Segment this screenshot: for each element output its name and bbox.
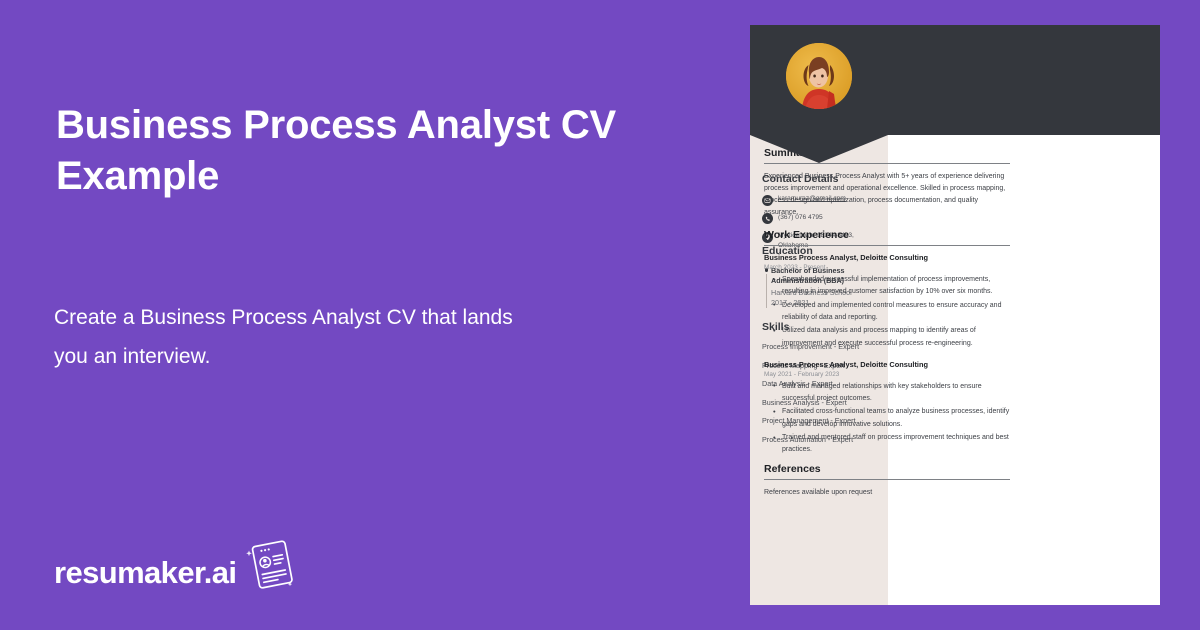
work-experience-section: Work Experience Business Process Analyst… (764, 229, 1010, 458)
job-bullet: Built and managed relationships with key… (782, 381, 1010, 405)
promo-panel: Business Process Analyst CV Example Crea… (0, 0, 750, 630)
job-bullet: Developed and implemented control measur… (782, 300, 1010, 324)
references-heading: References (764, 463, 1010, 480)
work-experience-heading: Work Experience (764, 229, 1010, 246)
references-section: References References available upon req… (764, 463, 1010, 499)
job-bullet: Trained and mentored staff on process im… (782, 432, 1010, 456)
references-text: References available upon request (764, 487, 1010, 499)
summary-text: Experienced Business Process Analyst wit… (764, 171, 1010, 219)
summary-section: Summary Experienced Business Process Ana… (764, 147, 1010, 219)
job-bullet: Spearheaded successful implementation of… (782, 274, 1010, 298)
document-card-icon (240, 538, 296, 597)
job-title: Business Process Analyst, Deloitte Consu… (764, 253, 1010, 263)
cv-preview-card[interactable]: Kara Muraz Business Process Analyst Cont… (750, 25, 1160, 605)
job-bullet-list: Built and managed relationships with key… (764, 381, 1010, 456)
promo-subheadline: Create a Business Process Analyst CV tha… (54, 298, 524, 377)
page-title: Business Process Analyst CV Example (56, 100, 676, 202)
job-dates: May 2021 - February 2023 (764, 371, 1010, 378)
brand-wordmark: resumaker.ai (54, 557, 236, 588)
job-bullet-list: Spearheaded successful implementation of… (764, 274, 1010, 349)
job-bullet: Utilized data analysis and process mappi… (782, 325, 1010, 349)
work-experience-entry: Business Process Analyst, Deloitte Consu… (764, 360, 1010, 457)
job-title: Business Process Analyst, Deloitte Consu… (764, 360, 1010, 370)
avatar (786, 43, 852, 109)
brand-logo[interactable]: resumaker.ai (54, 548, 296, 597)
work-experience-entry: Business Process Analyst, Deloitte Consu… (764, 253, 1010, 350)
job-bullet: Facilitated cross-functional teams to an… (782, 406, 1010, 430)
job-dates: March 2023 - Present (764, 264, 1010, 271)
